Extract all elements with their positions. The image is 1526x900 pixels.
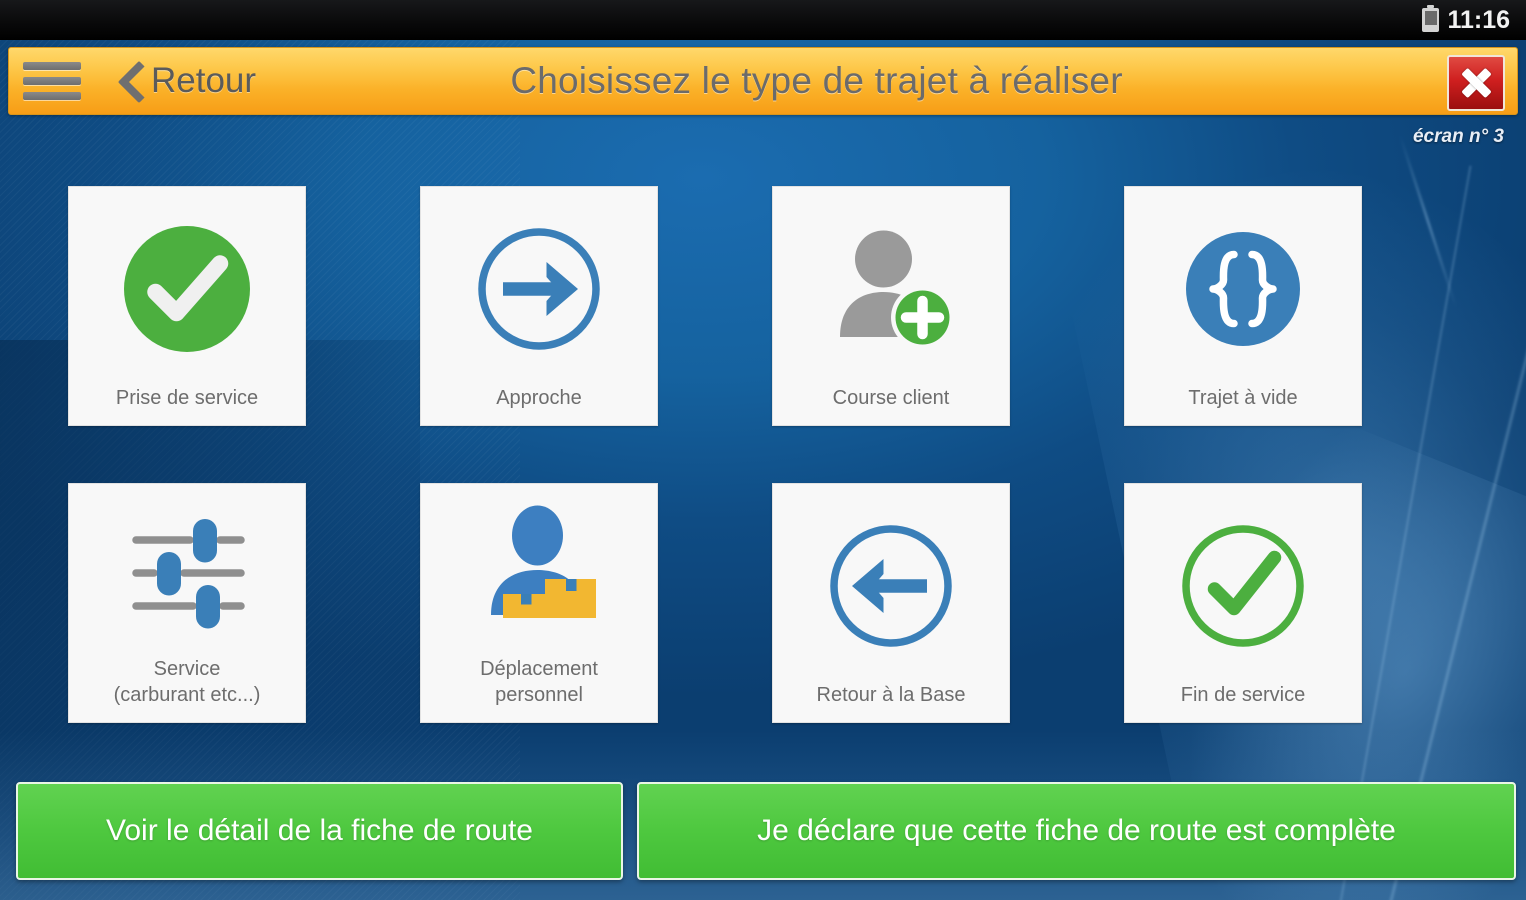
status-bar-clock: 11:16 — [1447, 7, 1510, 33]
close-button[interactable] — [1447, 55, 1505, 111]
tile-course-client[interactable]: Course client — [772, 186, 1010, 426]
battery-icon — [1422, 8, 1439, 32]
close-x-icon — [1459, 66, 1493, 100]
hamburger-menu-icon[interactable] — [23, 58, 81, 104]
hamburger-bar — [23, 62, 81, 70]
tile-label: Retour à la Base — [773, 682, 1009, 722]
tile-deplacement-personnel[interactable]: Déplacement personnel — [420, 483, 658, 723]
trip-type-grid: Prise de service Approche — [68, 186, 1368, 723]
tile-label: Trajet à vide — [1125, 385, 1361, 425]
status-bar-right: 11:16 — [1422, 7, 1510, 33]
toolbar: Retour Choisissez le type de trajet à ré… — [8, 47, 1518, 115]
hamburger-bar — [23, 92, 81, 100]
green-filled-check-circle-icon — [69, 187, 305, 385]
person-add-icon — [773, 187, 1009, 385]
declare-roadsheet-complete-button[interactable]: Je déclare que cette fiche de route est … — [637, 782, 1516, 880]
view-roadsheet-detail-button[interactable]: Voir le détail de la fiche de route — [16, 782, 623, 880]
blue-arrow-right-circle-icon — [421, 187, 657, 385]
tile-approche[interactable]: Approche — [420, 186, 658, 426]
page-title: Choisissez le type de trajet à réaliser — [256, 60, 1517, 102]
green-outline-check-circle-icon — [1125, 484, 1361, 682]
person-with-boxes-icon — [421, 484, 657, 656]
tile-retour-a-la-base[interactable]: Retour à la Base — [772, 483, 1010, 723]
tile-label: Approche — [421, 385, 657, 425]
screen-number-label: écran n° 3 — [1413, 126, 1504, 148]
tile-trajet-a-vide[interactable]: Trajet à vide — [1124, 186, 1362, 426]
tile-label: Déplacement personnel — [421, 656, 657, 722]
footer-buttons: Voir le détail de la fiche de route Je d… — [0, 784, 1526, 878]
chevron-left-icon — [115, 58, 149, 104]
tile-fin-de-service[interactable]: Fin de service — [1124, 483, 1362, 723]
app-root: 11:16 Retour Choisissez le type de traje… — [0, 0, 1526, 900]
hamburger-bar — [23, 77, 81, 85]
sliders-settings-icon — [69, 484, 305, 656]
tile-label: Service (carburant etc...) — [69, 656, 305, 722]
back-button-label: Retour — [151, 61, 256, 101]
blue-curly-braces-circle-icon — [1125, 187, 1361, 385]
tile-label: Course client — [773, 385, 1009, 425]
back-button[interactable]: Retour — [115, 58, 256, 104]
tile-service-carburant[interactable]: Service (carburant etc...) — [68, 483, 306, 723]
blue-arrow-left-circle-icon — [773, 484, 1009, 682]
tile-label: Prise de service — [69, 385, 305, 425]
tile-prise-de-service[interactable]: Prise de service — [68, 186, 306, 426]
tile-label: Fin de service — [1125, 682, 1361, 722]
android-status-bar: 11:16 — [0, 0, 1526, 40]
